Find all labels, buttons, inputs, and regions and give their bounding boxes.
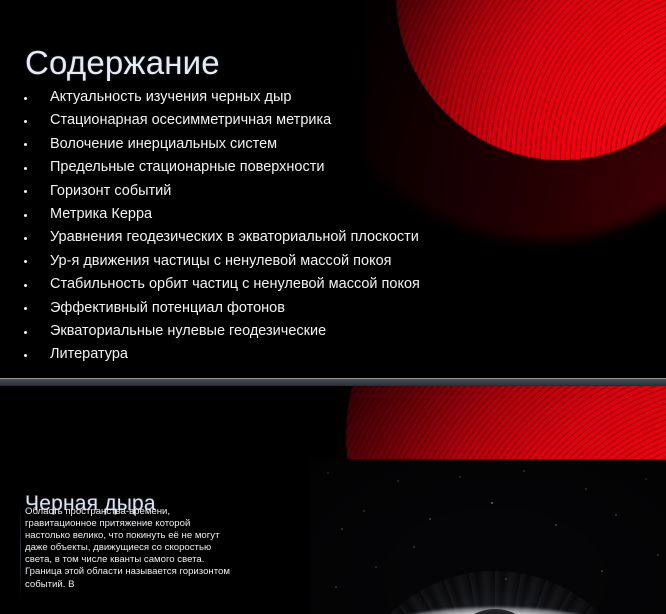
contents-list: Актуальность изучения черных дыр Стацион…	[0, 86, 520, 367]
page-title: Содержание	[25, 44, 220, 82]
left-accent-rule	[20, 503, 21, 598]
slide-deck: Содержание Актуальность изучения черных …	[0, 0, 666, 598]
black-hole-photo	[310, 459, 666, 614]
list-item[interactable]: Волочение инерциальных систем	[0, 133, 520, 156]
list-item[interactable]: Литература	[0, 343, 520, 366]
slide-contents[interactable]: Содержание Актуальность изучения черных …	[0, 0, 666, 378]
list-item[interactable]: Метрика Керра	[0, 203, 520, 226]
body-paragraph: Область пространства-времени, гравитацио…	[25, 506, 230, 591]
slide-divider	[0, 378, 666, 386]
list-item[interactable]: Горизонт событий	[0, 180, 520, 203]
list-item[interactable]: Стабильность орбит частиц с ненулевой ма…	[0, 273, 520, 296]
list-item[interactable]: Экваториальные нулевые геодезические	[0, 320, 520, 343]
list-item[interactable]: Стационарная осесимметричная метрика	[0, 109, 520, 132]
list-item[interactable]: Предельные стационарные поверхности	[0, 156, 520, 179]
list-item[interactable]: Уравнения геодезических в экваториальной…	[0, 226, 520, 249]
list-item[interactable]: Эффективный потенциал фотонов	[0, 297, 520, 320]
list-item[interactable]: Ур-я движения частицы с ненулевой массой…	[0, 250, 520, 273]
vignette-layer	[310, 459, 666, 614]
list-item[interactable]: Актуальность изучения черных дыр	[0, 86, 520, 109]
